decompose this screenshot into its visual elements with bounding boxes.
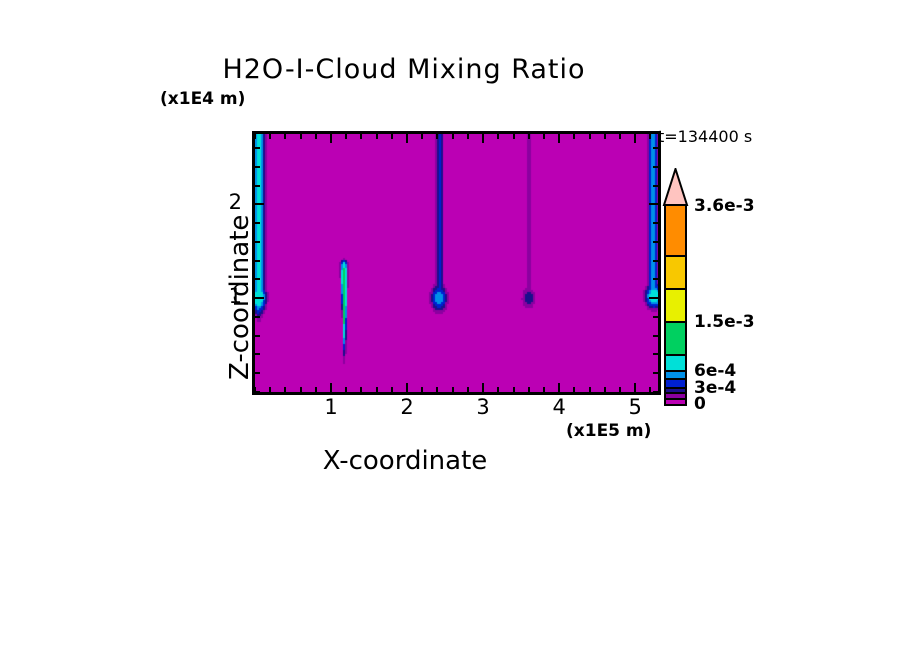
colorbar-bands xyxy=(664,204,687,406)
axis-tick xyxy=(255,241,260,243)
colorbar-band xyxy=(666,206,685,256)
axis-tick xyxy=(406,134,408,143)
x-tick-label: 1 xyxy=(311,395,351,419)
axis-tick xyxy=(255,222,260,224)
axis-tick xyxy=(513,387,515,392)
axis-tick xyxy=(330,383,332,392)
axis-tick xyxy=(649,134,651,139)
axis-tick xyxy=(649,387,651,392)
axis-tick xyxy=(255,278,260,280)
axis-tick xyxy=(255,372,260,374)
time-annotation: t=134400 s xyxy=(658,127,752,146)
axis-tick xyxy=(467,134,469,139)
axis-tick xyxy=(269,387,271,392)
axis-tick xyxy=(330,134,332,143)
axis-tick xyxy=(649,203,658,205)
axis-tick xyxy=(653,185,658,187)
x-axis-title: X-coordinate xyxy=(0,446,904,476)
axis-tick xyxy=(345,387,347,392)
colorbar-separator xyxy=(666,288,685,290)
axis-tick xyxy=(391,134,393,139)
axis-tick xyxy=(255,335,260,337)
axis-tick xyxy=(653,241,658,243)
axis-tick xyxy=(497,134,499,139)
axis-tick xyxy=(528,134,530,139)
x-tick-label: 5 xyxy=(615,395,655,419)
x-tick-label: 4 xyxy=(539,395,579,419)
axis-tick xyxy=(619,387,621,392)
x-axis-unit-label: (x1E5 m) xyxy=(566,421,651,441)
axis-tick xyxy=(300,134,302,139)
axis-tick xyxy=(255,297,264,299)
axis-tick xyxy=(653,166,658,168)
page-title-text: H2O-I-Cloud Mixing Ratio xyxy=(222,54,585,85)
axis-tick xyxy=(255,166,260,168)
colorbar-separator xyxy=(666,354,685,356)
axis-tick xyxy=(543,134,545,139)
axis-tick xyxy=(391,387,393,392)
axis-tick xyxy=(255,203,264,205)
colorbar-separator xyxy=(666,370,685,372)
axis-tick xyxy=(452,387,454,392)
axis-tick xyxy=(436,134,438,139)
contour-plot-figure: H2O-I-Cloud Mixing Ratio (x1E4 m) (x1E5 … xyxy=(0,0,904,654)
axis-tick xyxy=(255,353,260,355)
colorbar-separator xyxy=(666,392,685,394)
plot-area xyxy=(252,131,661,395)
x-tick-label: 3 xyxy=(463,395,503,419)
colorbar-band xyxy=(666,289,685,322)
axis-tick xyxy=(649,297,658,299)
axis-tick xyxy=(345,134,347,139)
colorbar-separator xyxy=(666,321,685,323)
axis-tick xyxy=(634,383,636,392)
axis-tick xyxy=(255,147,260,149)
axis-tick xyxy=(543,387,545,392)
axis-tick xyxy=(573,387,575,392)
axis-tick xyxy=(653,222,658,224)
axis-tick xyxy=(421,387,423,392)
contour-field-canvas xyxy=(255,134,658,392)
axis-tick xyxy=(436,387,438,392)
x-axis-title-text: X-coordinate xyxy=(323,446,488,476)
colorbar-extend-arrow-icon xyxy=(661,168,690,206)
y-tick-label: 1 xyxy=(212,284,242,308)
axis-tick xyxy=(589,134,591,139)
axis-tick xyxy=(255,260,260,262)
axis-tick xyxy=(589,387,591,392)
axis-tick xyxy=(376,134,378,139)
axis-tick xyxy=(653,372,658,374)
colorbar-tick-label: 1.5e-3 xyxy=(694,312,755,332)
axis-tick xyxy=(653,391,658,393)
axis-tick xyxy=(269,134,271,139)
axis-tick xyxy=(421,134,423,139)
y-axis-unit-label: (x1E4 m) xyxy=(160,89,245,109)
colorbar-separator xyxy=(666,255,685,257)
axis-tick xyxy=(284,387,286,392)
axis-tick xyxy=(360,134,362,139)
colorbar-tick-label: 0 xyxy=(694,394,706,414)
axis-tick xyxy=(653,316,658,318)
colorbar-band xyxy=(666,256,685,289)
axis-tick xyxy=(558,134,560,143)
axis-tick xyxy=(497,387,499,392)
axis-tick xyxy=(467,387,469,392)
axis-tick xyxy=(573,134,575,139)
axis-tick xyxy=(653,278,658,280)
page-title: H2O-I-Cloud Mixing Ratio xyxy=(0,54,904,85)
axis-tick xyxy=(653,260,658,262)
axis-tick xyxy=(300,387,302,392)
axis-tick xyxy=(528,387,530,392)
colorbar-separator xyxy=(666,378,685,380)
axis-tick xyxy=(653,353,658,355)
x-tick-label: 2 xyxy=(387,395,427,419)
axis-tick xyxy=(558,383,560,392)
axis-tick xyxy=(452,134,454,139)
axis-tick xyxy=(482,383,484,392)
axis-tick xyxy=(513,134,515,139)
axis-tick xyxy=(255,391,260,393)
axis-tick xyxy=(315,134,317,139)
axis-tick xyxy=(653,147,658,149)
axis-tick xyxy=(255,185,260,187)
axis-tick xyxy=(360,387,362,392)
axis-tick xyxy=(284,134,286,139)
axis-tick xyxy=(604,134,606,139)
axis-tick xyxy=(315,387,317,392)
colorbar-separator xyxy=(666,387,685,389)
axis-tick xyxy=(653,335,658,337)
colorbar-tick-label: 3.6e-3 xyxy=(694,196,755,216)
colorbar-separator xyxy=(666,398,685,400)
axis-tick xyxy=(406,383,408,392)
axis-tick xyxy=(255,316,260,318)
axis-tick xyxy=(634,134,636,143)
axis-tick xyxy=(604,387,606,392)
axis-tick xyxy=(482,134,484,143)
axis-tick xyxy=(619,134,621,139)
axis-tick xyxy=(254,134,256,139)
y-tick-label: 2 xyxy=(212,190,242,214)
colorbar-band xyxy=(666,322,685,355)
colorbar-band xyxy=(666,355,685,372)
axis-tick xyxy=(376,387,378,392)
